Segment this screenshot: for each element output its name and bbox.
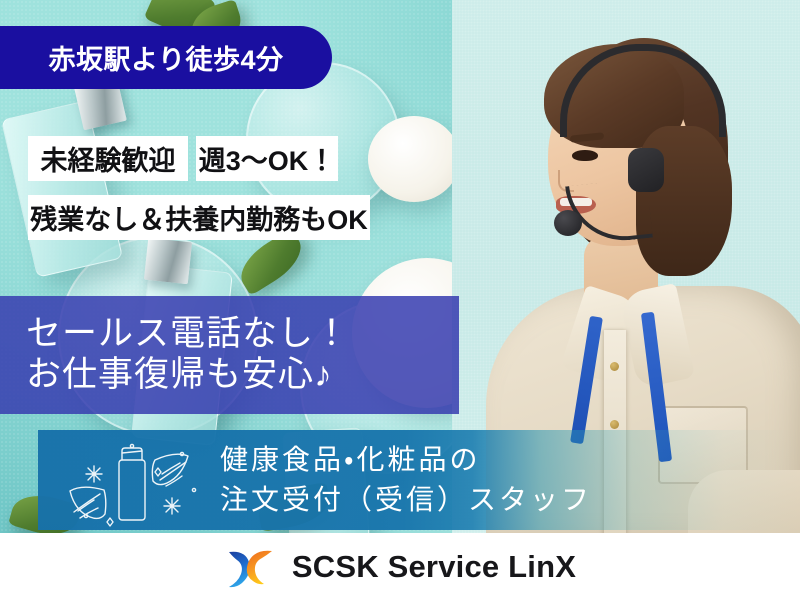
headline-line-2: お仕事復帰も安心♪ (26, 355, 459, 396)
company-name-label: SCSK Service LinX (292, 549, 576, 585)
headline-line-1: セールス電話なし！ (26, 314, 459, 355)
condition-badge-label: 週3〜OK！ (199, 139, 336, 178)
condition-badge-label: 残業なし＆扶養内勤務もOK (30, 198, 368, 237)
job-title-band: 健康食品・化粧品の 注文受付（受信）スタッフ (38, 430, 800, 530)
headset-boom-icon (565, 178, 653, 246)
condition-badge-label: 未経験歓迎 (41, 139, 176, 178)
job-advertisement-banner: 赤坂駅より徒歩4分 未経験歓迎 週3〜OK！ 残業なし＆扶養内勤務もOK セール… (0, 0, 800, 600)
bottle-cap-prop (144, 238, 192, 284)
cosmetic-bottle-line-art-icon (62, 436, 212, 528)
condition-badge-shifts: 週3〜OK！ (196, 136, 338, 181)
scsk-logo-mark-icon (224, 545, 280, 589)
eye (572, 150, 598, 161)
shirt-button (610, 362, 619, 371)
condition-badge-no-overtime: 残業なし＆扶養内勤務もOK (28, 195, 370, 240)
job-title-line-1: 健康食品・化粧品の (220, 440, 592, 480)
job-title-text: 健康食品・化粧品の 注文受付（受信）スタッフ (220, 438, 592, 522)
station-access-label: 赤坂駅より徒歩4分 (49, 38, 284, 77)
headset-microphone-icon (554, 210, 582, 236)
footer-logo-bar: SCSK Service LinX (0, 533, 800, 600)
station-access-badge: 赤坂駅より徒歩4分 (0, 26, 332, 89)
shirt-button (610, 420, 619, 429)
job-title-line-2: 注文受付（受信）スタッフ (220, 480, 592, 520)
headline-overlay: セールス電話なし！ お仕事復帰も安心♪ (0, 296, 459, 414)
cream-blob-prop (368, 116, 460, 202)
condition-badge-no-experience: 未経験歓迎 (28, 136, 188, 181)
